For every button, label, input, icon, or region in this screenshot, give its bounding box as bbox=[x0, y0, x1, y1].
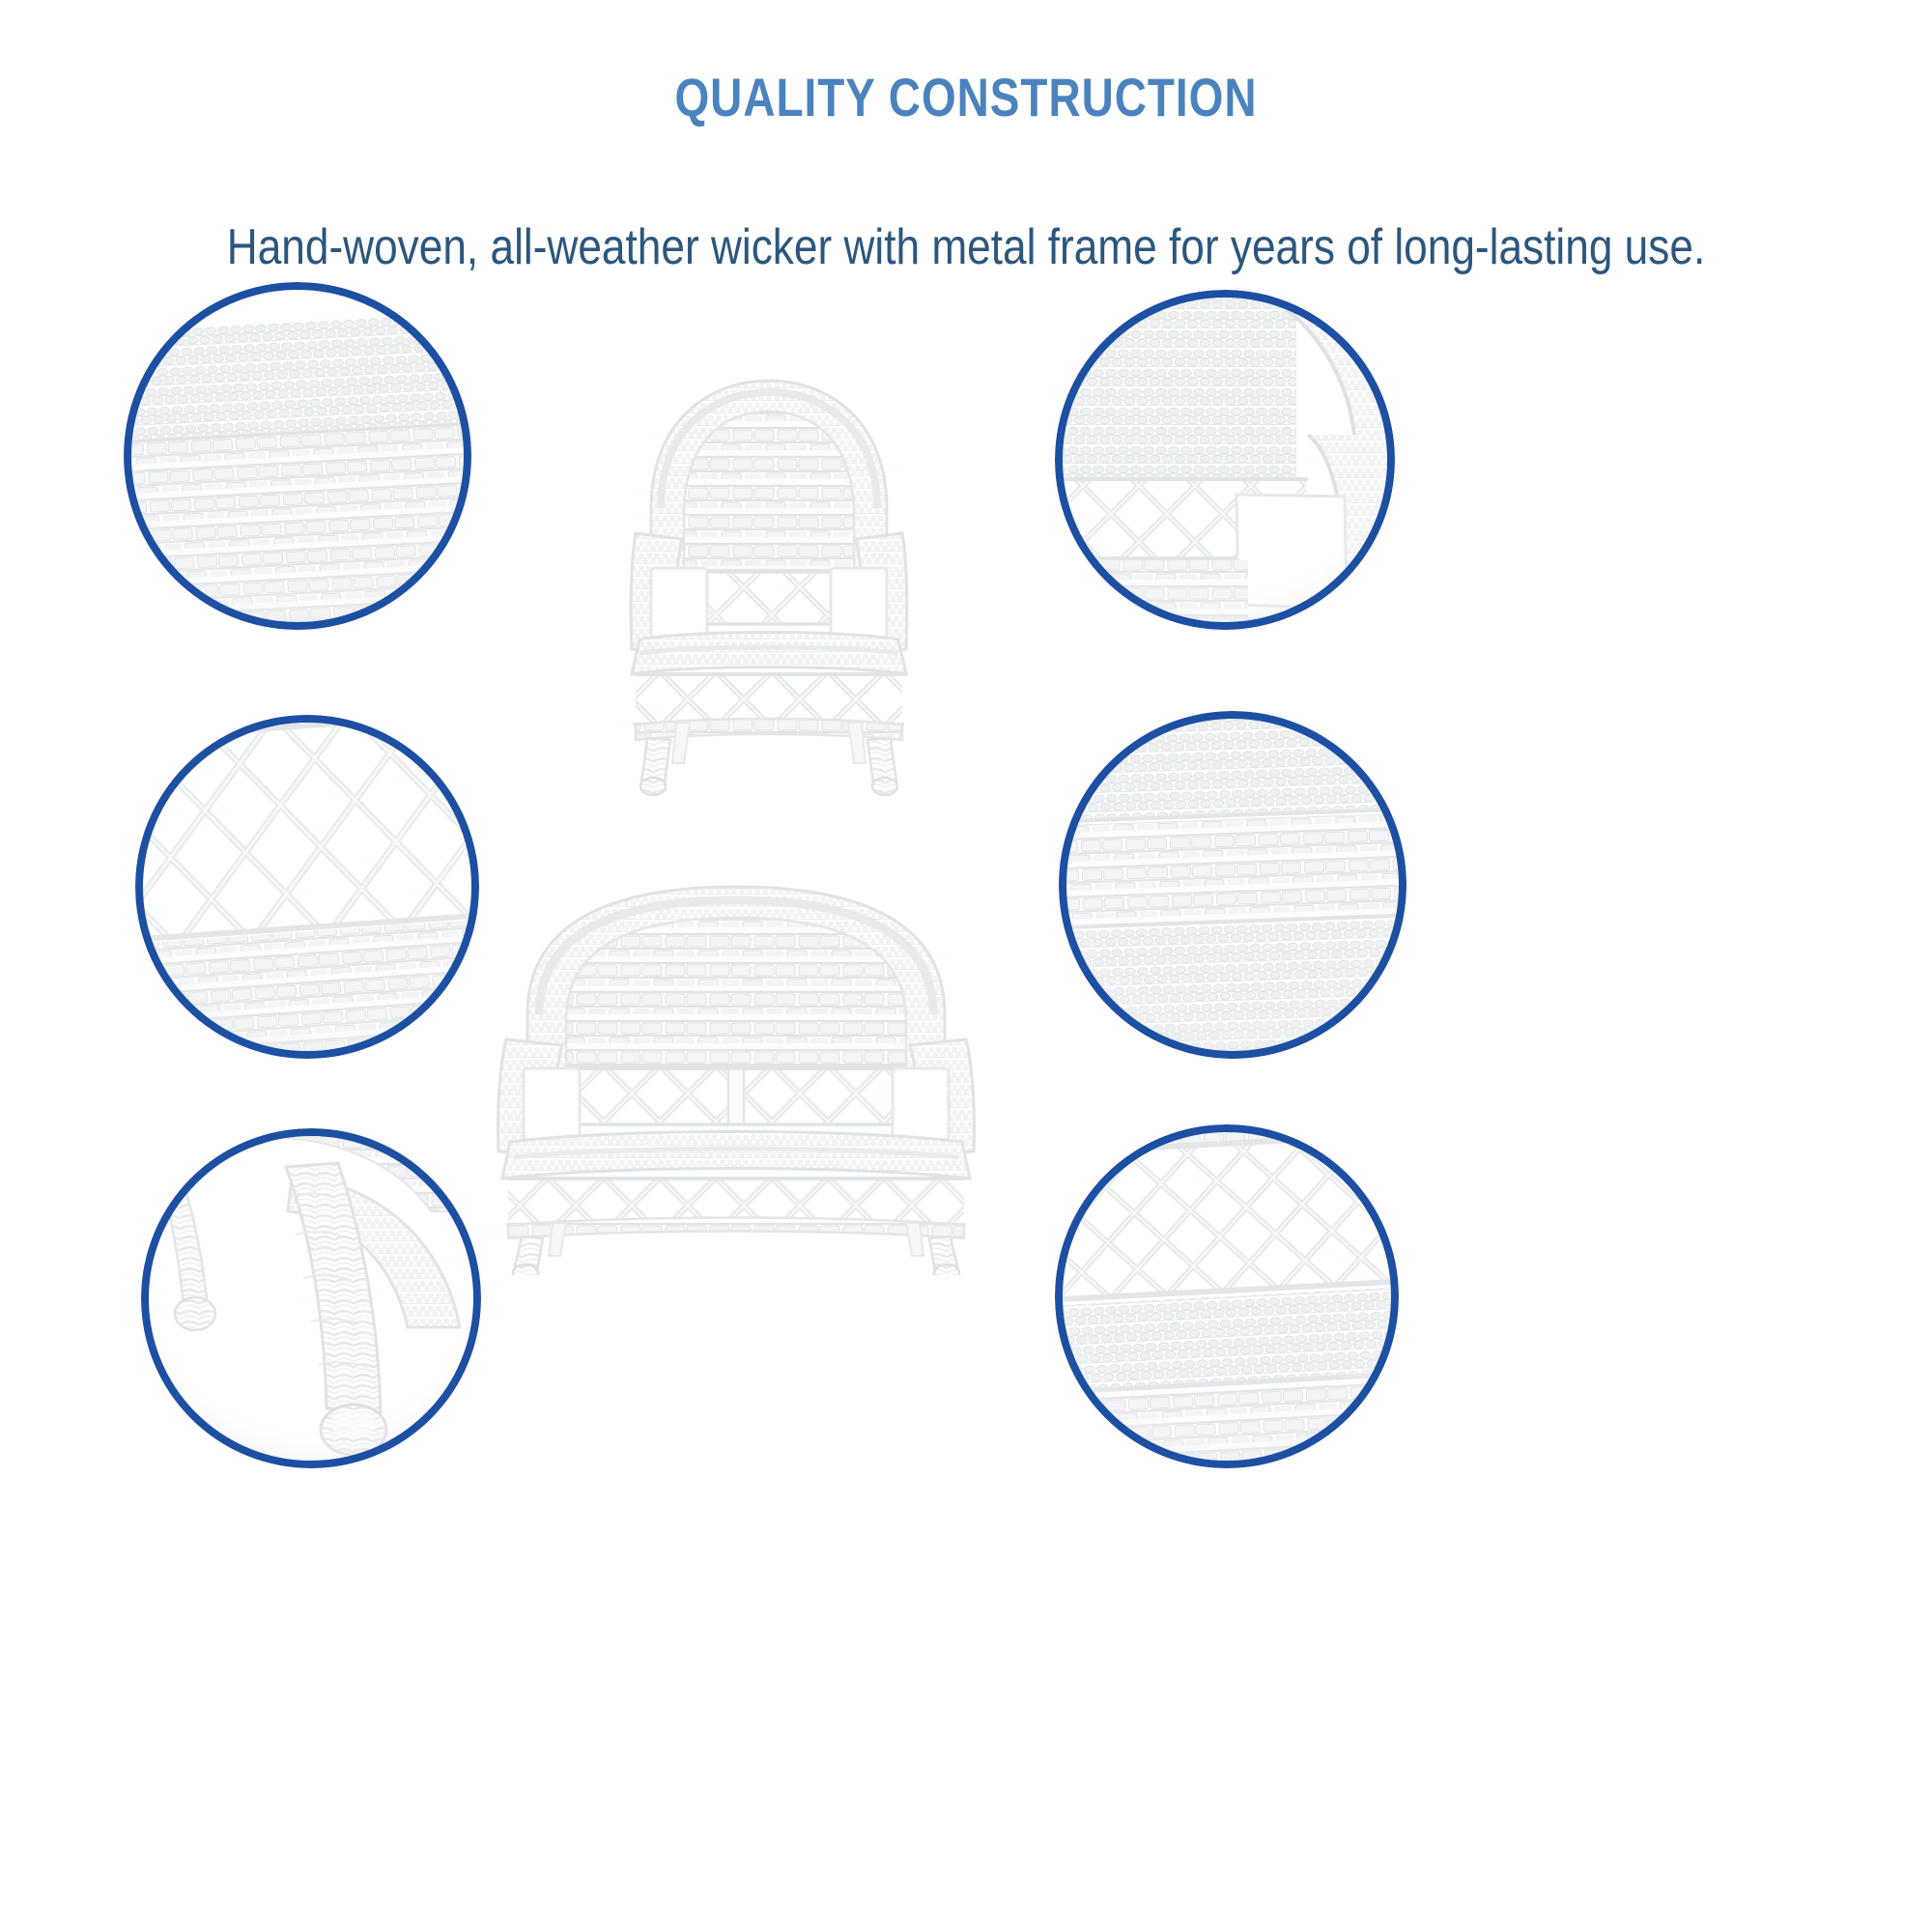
cross-lattice-apron-detail bbox=[1055, 1124, 1399, 1468]
wicker-loveseat bbox=[464, 869, 1009, 1275]
infographic-canvas: QUALITY CONSTRUCTION Hand-woven, all-wea… bbox=[0, 0, 1932, 1932]
header: QUALITY CONSTRUCTION Hand-woven, all-wea… bbox=[0, 0, 1932, 290]
basketweave-texture bbox=[124, 282, 471, 630]
cross-lattice-texture bbox=[1055, 1124, 1399, 1468]
round-weave-back-detail bbox=[1059, 711, 1406, 1059]
page-title: QUALITY CONSTRUCTION bbox=[174, 66, 1758, 128]
round-weave-texture bbox=[1059, 711, 1406, 1059]
tapered-leg-ball-foot-detail bbox=[141, 1128, 481, 1468]
chair-arm-corner-detail bbox=[1055, 290, 1395, 630]
diamond-lattice-skirt-detail bbox=[135, 715, 479, 1059]
arm-corner-texture bbox=[1055, 290, 1395, 630]
page-subtitle: Hand-woven, all-weather wicker with meta… bbox=[145, 218, 1787, 276]
diamond-lattice-texture bbox=[135, 715, 479, 1059]
leg-ball-foot-texture bbox=[141, 1128, 481, 1468]
wicker-barrel-chair bbox=[576, 363, 962, 798]
flat-basketweave-seat-detail bbox=[124, 282, 471, 630]
